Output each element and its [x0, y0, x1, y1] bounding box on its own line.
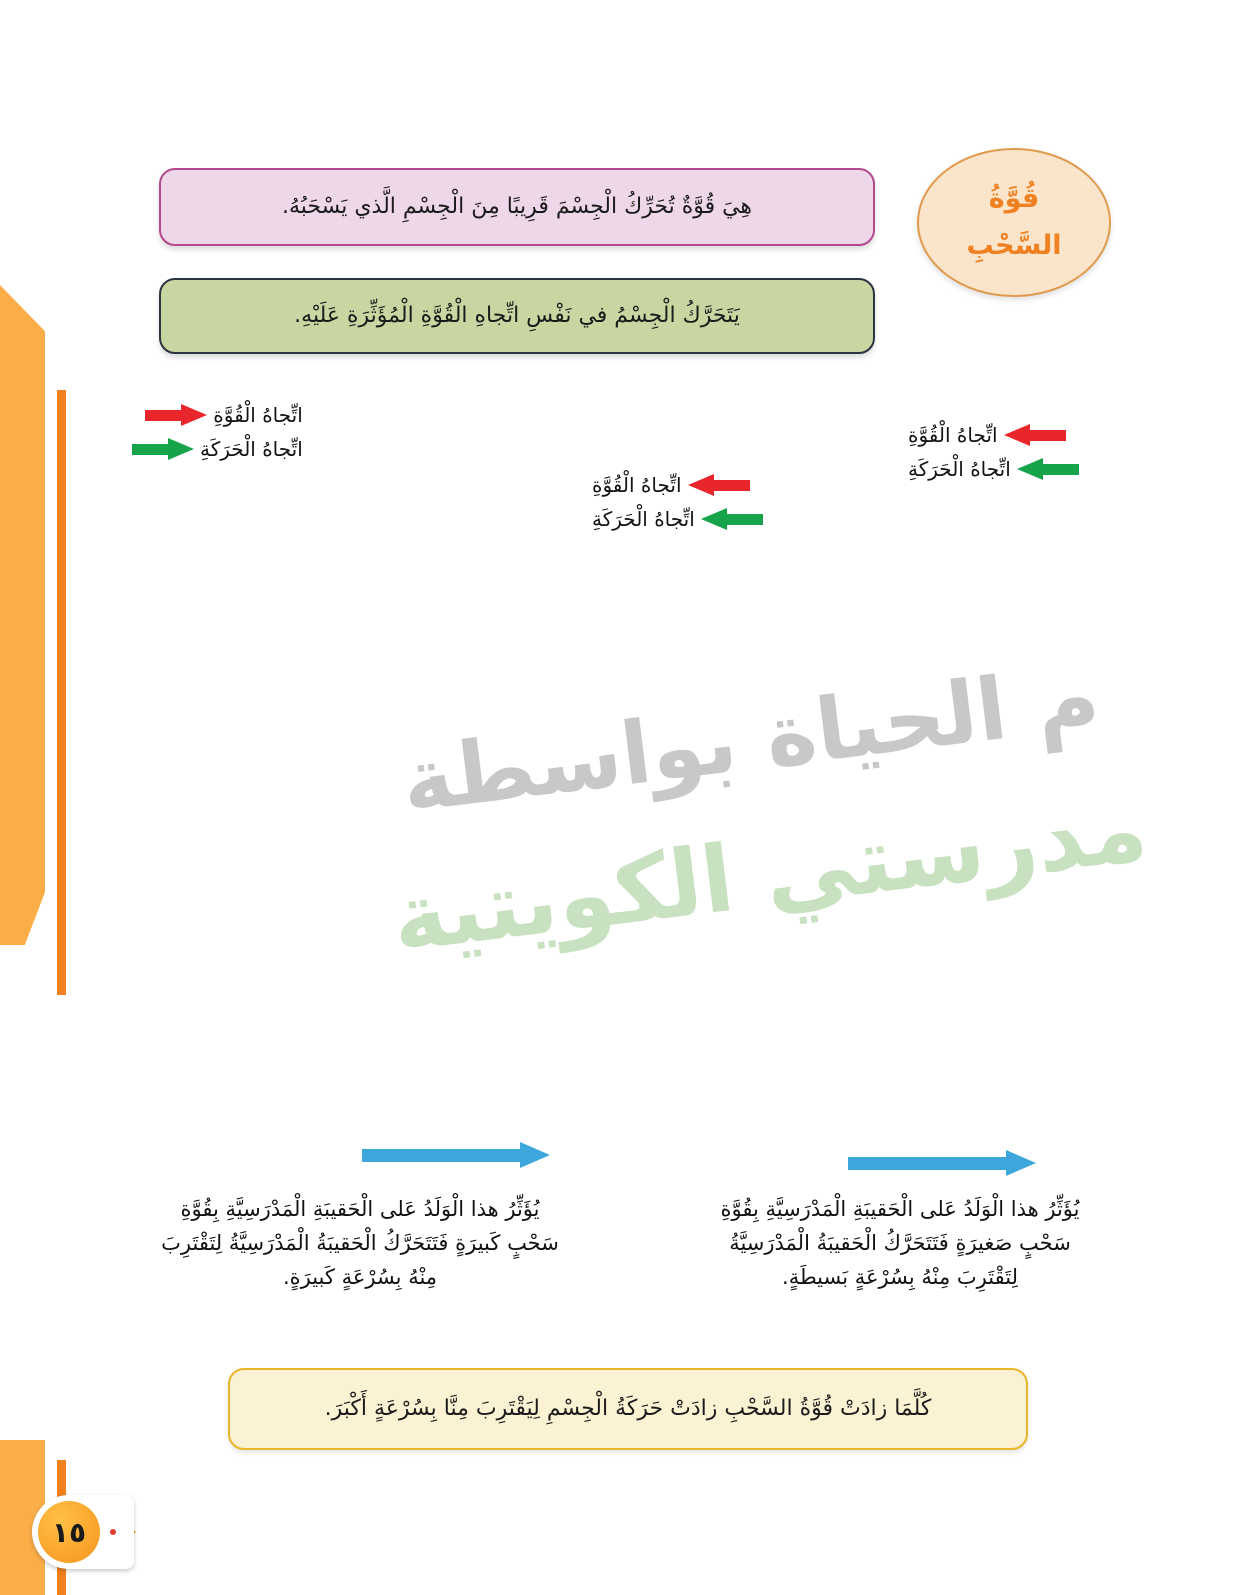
rule-text: يَتَحَرَّكُ الْجِسْمُ في نَفْسِ اتِّجاهِ…: [294, 298, 740, 333]
caption-fast-pull: يُؤَثِّرُ هذا الْوَلَدُ عَلى الْحَقيبَةِ…: [160, 1192, 560, 1294]
motion-direction-label: اتِّجاهُ الْحَرَكَةِ: [592, 507, 695, 531]
force-arrow-left-icon: [1004, 424, 1066, 446]
page-number-badge: ١٥: [14, 1487, 142, 1579]
page-number-dot-icon: [110, 1529, 116, 1535]
label-group-girl: اتِّجاهُ الْقُوَّةِ اتِّجاهُ الْحَرَكَةِ: [592, 468, 763, 536]
sidebar-rail-light: [0, 285, 45, 945]
sidebar-rail-dark: [57, 390, 66, 995]
motion-direction-label: اتِّجاهُ الْحَرَكَةِ: [200, 437, 303, 461]
force-direction-label: اتِّجاهُ الْقُوَّةِ: [908, 423, 998, 447]
force-arrow-right-icon: [145, 404, 207, 426]
label-group-pilot: اتِّجاهُ الْقُوَّةِ اتِّجاهُ الْحَرَكَةِ: [908, 418, 1079, 486]
watermark-green: مدرستي الكويتية: [386, 774, 1152, 973]
page-title-line2: السَّحْبِ: [967, 228, 1062, 264]
page-number: ١٥: [38, 1501, 100, 1563]
motion-arrow-left-icon: [1017, 458, 1079, 480]
page-title-bubble: قُوَّةُ السَّحْبِ: [917, 148, 1111, 297]
conclusion-box: كُلَّمَا زادَتْ قُوَّةُ السَّحْبِ زادَتْ…: [228, 1368, 1028, 1450]
motion-arrow-right-icon: [132, 438, 194, 460]
force-direction-label: اتِّجاهُ الْقُوَّةِ: [592, 473, 682, 497]
textbook-page: قُوَّةُ السَّحْبِ هِيَ قُوَّةٌ تُحَرِّكُ…: [0, 0, 1241, 1595]
label-group-horse: اتِّجاهُ الْقُوَّةِ اتِّجاهُ الْحَرَكَةِ: [132, 398, 303, 466]
motion-label-row: اتِّجاهُ الْحَرَكَةِ: [908, 452, 1079, 486]
watermark-gray: م الحياة بواسطة: [397, 648, 1105, 833]
definition-text: هِيَ قُوَّةٌ تُحَرِّكُ الْجِسْمَ قَرِيبً…: [282, 189, 752, 224]
force-arrow-left-icon: [688, 474, 750, 496]
motion-label-row: اتِّجاهُ الْحَرَكَةِ: [592, 502, 763, 536]
speed-arrow-slow-icon: [848, 1150, 1038, 1176]
motion-direction-label: اتِّجاهُ الْحَرَكَةِ: [908, 457, 1011, 481]
speed-arrow-fast-icon: [362, 1142, 552, 1168]
force-direction-label: اتِّجاهُ الْقُوَّةِ: [213, 403, 303, 427]
definition-box: هِيَ قُوَّةٌ تُحَرِّكُ الْجِسْمَ قَرِيبً…: [159, 168, 875, 246]
force-label-row: اتِّجاهُ الْقُوَّةِ: [908, 418, 1079, 452]
conclusion-text: كُلَّمَا زادَتْ قُوَّةُ السَّحْبِ زادَتْ…: [325, 1391, 932, 1426]
force-label-row: اتِّجاهُ الْقُوَّةِ: [132, 398, 303, 432]
page-title-line1: قُوَّةُ: [989, 181, 1040, 217]
caption-slow-pull: يُؤَثِّرُ هذا الْوَلَدُ عَلى الْحَقيبَةِ…: [700, 1192, 1100, 1294]
rule-box: يَتَحَرَّكُ الْجِسْمُ في نَفْسِ اتِّجاهِ…: [159, 278, 875, 354]
motion-arrow-left-icon: [701, 508, 763, 530]
force-label-row: اتِّجاهُ الْقُوَّةِ: [592, 468, 763, 502]
motion-label-row: اتِّجاهُ الْحَرَكَةِ: [132, 432, 303, 466]
